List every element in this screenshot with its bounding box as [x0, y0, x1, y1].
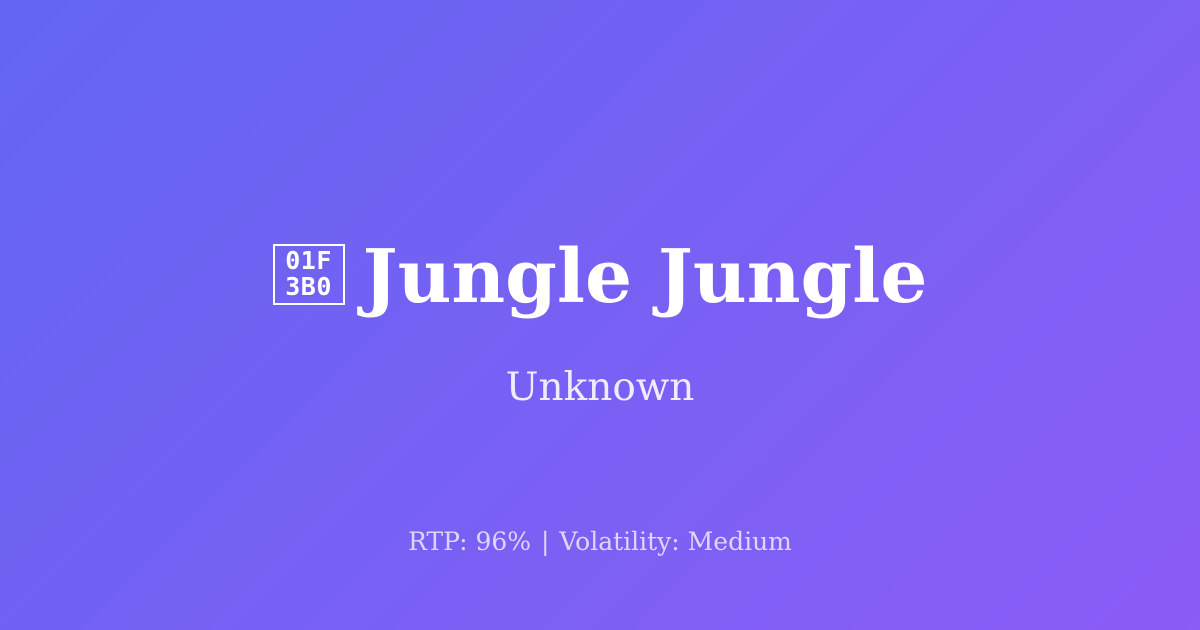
- rtp-value: RTP: 96%: [408, 527, 531, 556]
- game-provider-subtitle: Unknown: [0, 363, 1200, 413]
- slot-machine-icon: 01F 3B0: [273, 244, 345, 305]
- page-title: 01F 3B0 Jungle Jungle: [0, 232, 1200, 322]
- card-content: 01F 3B0 Jungle Jungle Unknown RTP: 96% |…: [0, 0, 1200, 630]
- game-meta-line: RTP: 96% | Volatility: Medium: [0, 526, 1200, 558]
- game-title-text: Jungle Jungle: [363, 232, 928, 322]
- slot-machine-icon-codepoint-bottom: 3B0: [285, 274, 332, 300]
- volatility-value: Volatility: Medium: [559, 527, 791, 556]
- meta-separator: |: [539, 527, 551, 556]
- game-og-card: 01F 3B0 Jungle Jungle Unknown RTP: 96% |…: [0, 0, 1200, 630]
- slot-machine-icon-codepoint-top: 01F: [285, 248, 332, 274]
